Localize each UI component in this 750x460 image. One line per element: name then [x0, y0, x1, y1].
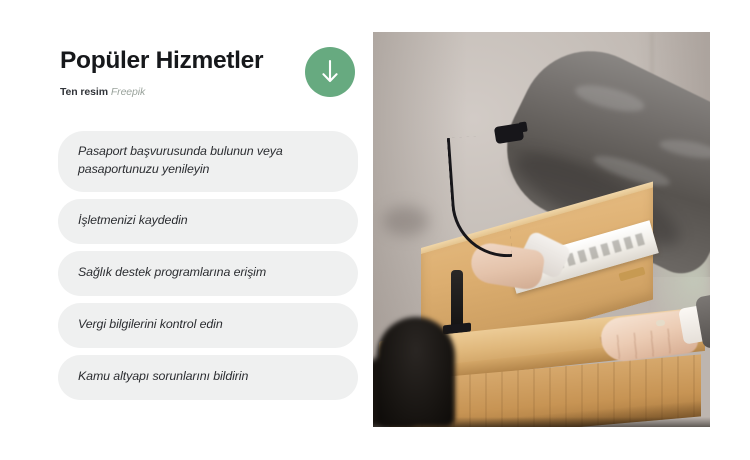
slide-canvas: Popüler Hizmetler Ten resim Freepik Pasa… — [0, 0, 750, 460]
photo-sleeve-fold — [573, 80, 646, 117]
image-attribution: Ten resim Freepik — [60, 86, 145, 98]
page-title: Popüler Hizmetler — [60, 47, 263, 75]
photo-bottom-vignette — [373, 417, 710, 427]
arrow-down-icon — [319, 59, 341, 85]
list-item-label: Kamu altyapı sorunlarını bildirin — [78, 368, 248, 386]
photo-foreground-object — [377, 317, 455, 427]
left-content-column: Popüler Hizmetler Ten resim Freepik — [58, 40, 358, 102]
list-item-label: Sağlık destek programlarına erişim — [78, 264, 266, 282]
list-item[interactable]: Kamu altyapı sorunlarını bildirin — [58, 355, 358, 400]
photo-microphone-base — [451, 270, 463, 330]
list-item[interactable]: İşletmenizi kaydedin — [58, 199, 358, 244]
list-item-label: Vergi bilgilerini kontrol edin — [78, 316, 223, 334]
attribution-prefix: Ten resim — [60, 86, 108, 98]
list-item[interactable]: Pasaport başvurusunda bulunun veya pasap… — [58, 131, 358, 192]
photo-microphone-tip — [518, 121, 527, 132]
list-item[interactable]: Sağlık destek programlarına erişim — [58, 251, 358, 296]
photo-inner — [373, 32, 710, 427]
heading-row: Popüler Hizmetler Ten resim Freepik — [58, 40, 358, 102]
list-item-label: Pasaport başvurusunda bulunun veya pasap… — [78, 143, 344, 179]
photo-sleeve-fold — [658, 137, 710, 163]
photo-background-blur-spot — [383, 206, 429, 236]
podium-photo — [373, 32, 710, 427]
list-item-label: İşletmenizi kaydedin — [78, 212, 188, 230]
list-item[interactable]: Vergi bilgilerini kontrol edin — [58, 303, 358, 348]
popular-services-list: Pasaport başvurusunda bulunun veya pasap… — [58, 131, 358, 400]
download-badge-button[interactable] — [305, 47, 355, 97]
attribution-source-link[interactable]: Freepik — [111, 86, 145, 98]
